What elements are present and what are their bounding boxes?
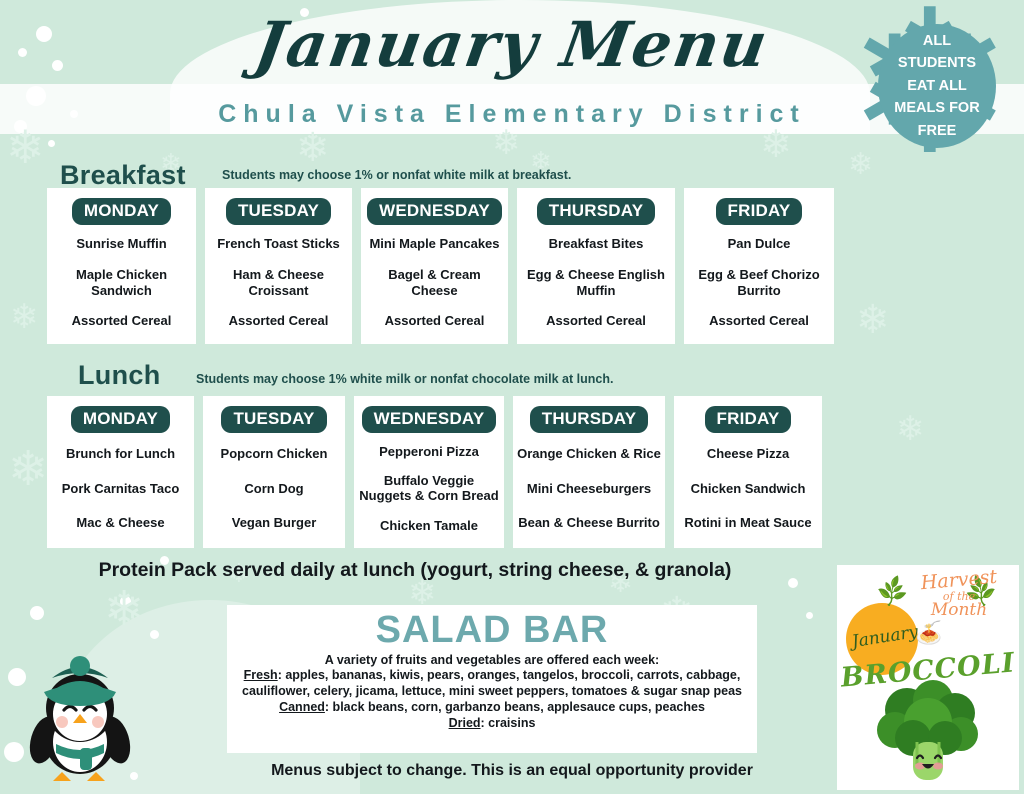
day-label: FRIDAY: [716, 198, 803, 225]
lunch-milk-note: Students may choose 1% white milk or non…: [196, 372, 613, 386]
breakfast-week-row: MONDAYSunrise MuffinMaple Chicken Sandwi…: [47, 188, 837, 344]
menu-item: Pork Carnitas Taco: [51, 481, 190, 497]
menu-item-list: Mini Maple PancakesBagel & Cream CheeseA…: [361, 225, 508, 344]
menu-item: Sunrise Muffin: [51, 236, 192, 252]
protein-pack-note: Protein Pack served daily at lunch (yogu…: [0, 559, 830, 582]
day-label: WEDNESDAY: [362, 406, 497, 433]
harvest-of-the-month-card: January 🌿 🌿 Harvest of the Month 🍝 BROCC…: [837, 565, 1019, 790]
canned-label: Canned: [279, 700, 325, 714]
fresh-items: : apples, bananas, kiwis, pears, oranges…: [242, 668, 742, 698]
day-card: MONDAYSunrise MuffinMaple Chicken Sandwi…: [47, 188, 196, 344]
menu-item: Mac & Cheese: [51, 515, 190, 531]
menu-item: Pan Dulce: [688, 236, 830, 252]
menu-item-list: French Toast SticksHam & Cheese Croissan…: [205, 225, 352, 344]
fresh-label: Fresh: [244, 668, 278, 682]
menu-item: Chicken Sandwich: [678, 481, 818, 497]
broccoli-icon: [873, 680, 983, 785]
day-card: THURSDAYBreakfast BitesEgg & Cheese Engl…: [517, 188, 675, 344]
menu-item-list: Pepperoni PizzaBuffalo Veggie Nuggets & …: [354, 433, 504, 548]
menu-item-list: Sunrise MuffinMaple Chicken SandwichAsso…: [47, 225, 196, 344]
menu-item-list: Breakfast BitesEgg & Cheese English Muff…: [517, 225, 675, 344]
harvest-heading: Harvest of the Month: [901, 571, 1017, 620]
menu-item: Buffalo Veggie Nuggets & Corn Bread: [358, 473, 500, 504]
breakfast-milk-note: Students may choose 1% or nonfat white m…: [222, 168, 571, 182]
menu-item: Ham & Cheese Croissant: [209, 267, 348, 298]
menu-item: Maple Chicken Sandwich: [51, 267, 192, 298]
breakfast-title: Breakfast: [60, 160, 186, 190]
day-label: WEDNESDAY: [367, 198, 502, 225]
menu-item: Corn Dog: [207, 481, 341, 497]
menu-item: Breakfast Bites: [521, 236, 671, 252]
canned-items: : black beans, corn, garbanzo beans, app…: [325, 700, 705, 714]
day-label: TUESDAY: [221, 406, 326, 433]
day-card: TUESDAYPopcorn ChickenCorn DogVegan Burg…: [203, 396, 345, 548]
menu-item: Orange Chicken & Rice: [517, 446, 661, 462]
menu-item: French Toast Sticks: [209, 236, 348, 252]
day-card: MONDAYBrunch for LunchPork Carnitas Taco…: [47, 396, 194, 548]
menu-item: Chicken Tamale: [358, 518, 500, 534]
day-card: FRIDAYCheese PizzaChicken SandwichRotini…: [674, 396, 822, 548]
menu-item: Rotini in Meat Sauce: [678, 515, 818, 531]
menu-item: Popcorn Chicken: [207, 446, 341, 462]
salad-fresh-line: Fresh: apples, bananas, kiwis, pears, or…: [235, 667, 749, 699]
menu-item: Assorted Cereal: [209, 313, 348, 329]
day-label: FRIDAY: [705, 406, 792, 433]
menu-item: Assorted Cereal: [51, 313, 192, 329]
snowflake-icon: ❄: [856, 300, 890, 340]
menu-item-list: Cheese PizzaChicken SandwichRotini in Me…: [674, 433, 822, 548]
lunch-heading: Lunch: [78, 360, 161, 391]
menu-item: Assorted Cereal: [365, 313, 504, 329]
harvest-line-3: Month: [901, 602, 1017, 620]
lunch-title: Lunch: [78, 360, 161, 390]
menu-poster: ❄ ❄ ❄ ❄ ❄ ❄ ❄ ❄ ❄ ❄ ❄ ❄ ❄ ❄ ❄ ❄ January …: [0, 0, 1024, 794]
day-card: WEDNESDAYMini Maple PancakesBagel & Crea…: [361, 188, 508, 344]
day-label: MONDAY: [71, 406, 170, 433]
day-card: FRIDAYPan DulceEgg & Beef Chorizo Burrit…: [684, 188, 834, 344]
menu-item-list: Orange Chicken & RiceMini CheeseburgersB…: [513, 433, 665, 548]
menu-item: Vegan Burger: [207, 515, 341, 531]
snowflake-icon: ❄: [10, 300, 39, 334]
free-meals-badge: ❄ ALL STUDENTS EAT ALL MEALS FOR FREE: [846, 2, 1024, 166]
salad-bar-panel: SALAD BAR A variety of fruits and vegeta…: [227, 605, 757, 753]
dried-items: : craisins: [481, 716, 536, 730]
snowflake-icon: ❄: [8, 446, 48, 494]
day-card: WEDNESDAYPepperoni PizzaBuffalo Veggie N…: [354, 396, 504, 548]
menu-item-list: Brunch for LunchPork Carnitas TacoMac & …: [47, 433, 194, 548]
fruit-bowl-icon: 🍝: [915, 620, 942, 646]
menu-item: Assorted Cereal: [688, 313, 830, 329]
day-label: THURSDAY: [537, 198, 656, 225]
badge-label: ALL STUDENTS EAT ALL MEALS FOR FREE: [878, 24, 996, 148]
salad-dried-line: Dried: craisins: [235, 715, 749, 731]
menu-item-list: Popcorn ChickenCorn DogVegan Burger: [203, 433, 345, 548]
salad-bar-lead: A variety of fruits and vegetables are o…: [235, 653, 749, 667]
dried-label: Dried: [449, 716, 481, 730]
menu-item: Egg & Beef Chorizo Burrito: [688, 267, 830, 298]
breakfast-heading: Breakfast: [60, 160, 186, 191]
salad-canned-line: Canned: black beans, corn, garbanzo bean…: [235, 699, 749, 715]
menu-item: Egg & Cheese English Muffin: [521, 267, 671, 298]
menu-item: Bagel & Cream Cheese: [365, 267, 504, 298]
day-label: THURSDAY: [530, 406, 649, 433]
menu-item: Mini Maple Pancakes: [365, 236, 504, 252]
menu-item: Assorted Cereal: [521, 313, 671, 329]
menu-item: Bean & Cheese Burrito: [517, 515, 661, 531]
snowflake-icon: ❄: [896, 412, 925, 446]
lunch-week-row: MONDAYBrunch for LunchPork Carnitas Taco…: [47, 396, 837, 548]
day-card: TUESDAYFrench Toast SticksHam & Cheese C…: [205, 188, 352, 344]
menu-item: Mini Cheeseburgers: [517, 481, 661, 497]
menu-item: Pepperoni Pizza: [358, 444, 500, 460]
day-label: TUESDAY: [226, 198, 331, 225]
salad-bar-title: SALAD BAR: [235, 611, 749, 651]
menu-item: Cheese Pizza: [678, 446, 818, 462]
menu-item-list: Pan DulceEgg & Beef Chorizo BurritoAssor…: [684, 225, 834, 344]
day-card: THURSDAYOrange Chicken & RiceMini Cheese…: [513, 396, 665, 548]
menu-item: Brunch for Lunch: [51, 446, 190, 462]
penguin-icon: [22, 652, 138, 784]
day-label: MONDAY: [72, 198, 171, 225]
